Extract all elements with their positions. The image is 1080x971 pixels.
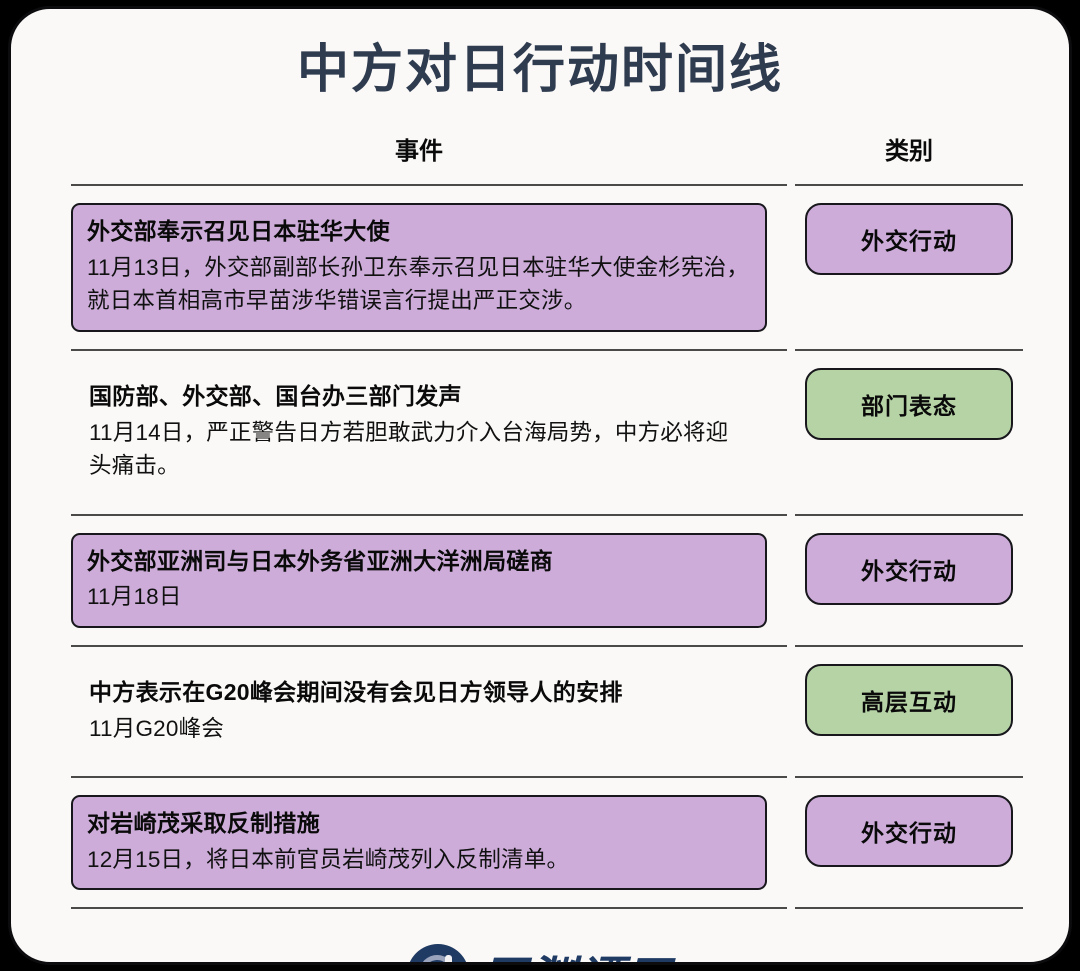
row-separator xyxy=(71,177,1023,193)
row-separator xyxy=(71,769,1023,785)
event-box: 中方表示在G20峰会期间没有会见日方领导人的安排 11月G20峰会 xyxy=(71,664,767,759)
event-description: 11月G20峰会 xyxy=(89,712,751,746)
row-cell-event: 外交部亚洲司与日本外务省亚洲大洋洲局磋商 11月18日 xyxy=(71,533,789,628)
bar-shape xyxy=(445,955,452,965)
column-header-category: 类别 xyxy=(795,131,1023,166)
header-cell-event: 事件 xyxy=(71,131,789,166)
event-description: 12月15日，将日本前官员岩崎茂列入反制清单。 xyxy=(87,843,751,877)
table-row[interactable]: 中方表示在G20峰会期间没有会见日方领导人的安排 11月G20峰会 高层互动 xyxy=(71,654,1023,769)
row-separator xyxy=(71,900,1023,916)
status-badge[interactable]: 外交行动 xyxy=(805,533,1013,605)
brand-logo-icon xyxy=(407,944,469,965)
event-title: 对岩崎茂采取反制措施 xyxy=(87,807,751,840)
status-badge[interactable]: 高层互动 xyxy=(805,664,1013,736)
status-badge[interactable]: 部门表态 xyxy=(805,368,1013,440)
row-cell-event: 中方表示在G20峰会期间没有会见日方领导人的安排 11月G20峰会 xyxy=(71,664,789,759)
event-title: 外交部奉示召见日本驻华大使 xyxy=(87,215,751,248)
event-description: 11月14日，严正警告日方若胆敢武力介入台海局势，中方必将迎头痛击。 xyxy=(89,416,751,484)
row-cell-event: 对岩崎茂采取反制措施 12月15日，将日本前官员岩崎茂列入反制清单。 xyxy=(71,795,789,890)
status-badge[interactable]: 外交行动 xyxy=(805,203,1013,275)
header-cell-category: 类别 xyxy=(789,131,1023,166)
infographic-card: 中方对日行动时间线 事件 类别 外交部奉示召见日本驻华大使 11月13日，外交部… xyxy=(8,6,1072,965)
footer-branding: 玉渊谭天 xyxy=(11,942,1069,965)
row-separator xyxy=(71,342,1023,358)
event-title: 国防部、外交部、国台办三部门发声 xyxy=(89,380,751,413)
table-row[interactable]: 国防部、外交部、国台办三部门发声 11月14日，严正警告日方若胆敢武力介入台海局… xyxy=(71,358,1023,507)
timeline-table: 事件 类别 外交部奉示召见日本驻华大使 11月13日，外交部副部长孙卫东奉示召见… xyxy=(71,119,1023,916)
event-description: 11月18日 xyxy=(87,580,751,614)
table-header-row: 事件 类别 xyxy=(71,119,1023,177)
row-cell-event: 国防部、外交部、国台办三部门发声 11月14日，严正警告日方若胆敢武力介入台海局… xyxy=(71,368,789,497)
row-cell-category: 外交行动 xyxy=(789,795,1023,867)
event-description: 11月13日，外交部副部长孙卫东奉示召见日本驻华大使金杉宪治，就日本首相高市早苗… xyxy=(87,251,751,319)
event-box: 外交部亚洲司与日本外务省亚洲大洋洲局磋商 11月18日 xyxy=(71,533,767,628)
status-badge[interactable]: 外交行动 xyxy=(805,795,1013,867)
event-box: 国防部、外交部、国台办三部门发声 11月14日，严正警告日方若胆敢武力介入台海局… xyxy=(71,368,767,497)
event-title: 外交部亚洲司与日本外务省亚洲大洋洲局磋商 xyxy=(87,545,751,578)
event-box: 外交部奉示召见日本驻华大使 11月13日，外交部副部长孙卫东奉示召见日本驻华大使… xyxy=(71,203,767,332)
row-cell-event: 外交部奉示召见日本驻华大使 11月13日，外交部副部长孙卫东奉示召见日本驻华大使… xyxy=(71,203,789,332)
row-cell-category: 外交行动 xyxy=(789,203,1023,275)
row-cell-category: 外交行动 xyxy=(789,533,1023,605)
table-row[interactable]: 外交部亚洲司与日本外务省亚洲大洋洲局磋商 11月18日 外交行动 xyxy=(71,523,1023,638)
table-row[interactable]: 对岩崎茂采取反制措施 12月15日，将日本前官员岩崎茂列入反制清单。 外交行动 xyxy=(71,785,1023,900)
event-box: 对岩崎茂采取反制措施 12月15日，将日本前官员岩崎茂列入反制清单。 xyxy=(71,795,767,890)
table-row[interactable]: 外交部奉示召见日本驻华大使 11月13日，外交部副部长孙卫东奉示召见日本驻华大使… xyxy=(71,193,1023,342)
event-title: 中方表示在G20峰会期间没有会见日方领导人的安排 xyxy=(89,676,751,709)
row-separator xyxy=(71,507,1023,523)
row-cell-category: 部门表态 xyxy=(789,368,1023,440)
page-title: 中方对日行动时间线 xyxy=(11,39,1069,101)
column-header-event: 事件 xyxy=(71,131,789,166)
row-cell-category: 高层互动 xyxy=(789,664,1023,736)
swirl-shape xyxy=(412,948,462,965)
brand-logo-text: 玉渊谭天 xyxy=(481,942,673,965)
row-separator xyxy=(71,638,1023,654)
